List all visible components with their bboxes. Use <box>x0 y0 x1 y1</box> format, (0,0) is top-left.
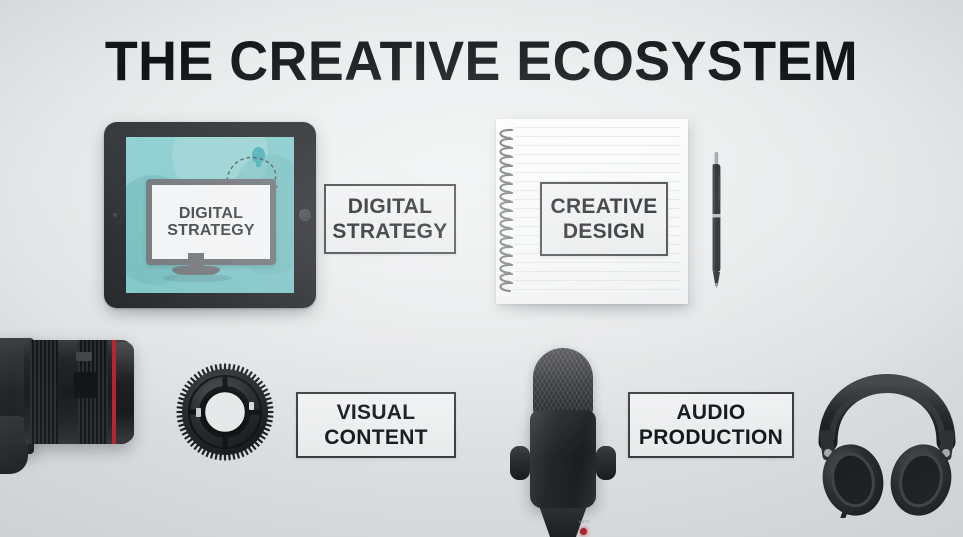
dslr-camera[interactable] <box>0 330 148 490</box>
mic-yoke-right <box>596 446 616 480</box>
tablet-screen[interactable]: DIGITAL STRATEGY <box>126 137 294 293</box>
monitor-stand-base <box>172 266 220 275</box>
tablet-device[interactable]: DIGITAL STRATEGY <box>104 122 316 308</box>
label-line2: PRODUCTION <box>639 426 783 449</box>
lens-front-element <box>116 342 134 442</box>
monitor-screen-text: DIGITAL STRATEGY <box>167 205 255 239</box>
label-line2: DESIGN <box>563 220 645 243</box>
tablet-camera-icon <box>113 213 117 217</box>
mic-body: MUTE BLUE YETI <box>530 410 596 508</box>
label-line2: STRATEGY <box>332 220 447 243</box>
tablet-home-button[interactable] <box>299 209 311 221</box>
monitor-text-line1: DIGITAL <box>179 205 243 222</box>
lens-distance-window <box>74 372 96 398</box>
page-title: THE CREATIVE ECOSYSTEM <box>19 33 943 89</box>
monitor-icon: DIGITAL STRATEGY <box>146 179 276 265</box>
mic-led-indicator <box>580 528 587 535</box>
label-text: CREATIVE DESIGN <box>550 194 657 244</box>
label-line2: CONTENT <box>324 426 428 449</box>
label-creative-design[interactable]: CREATIVE DESIGN <box>540 182 668 256</box>
creative-ecosystem-poster: THE CREATIVE ECOSYSTEM DIGITAL STRATEGY <box>0 0 963 537</box>
label-line1: VISUAL <box>337 401 416 424</box>
label-text: AUDIO PRODUCTION <box>639 400 783 450</box>
mic-mute-label: MUTE <box>572 520 596 524</box>
label-visual-content[interactable]: VISUAL CONTENT <box>296 392 456 458</box>
camera-lens <box>24 340 132 444</box>
label-audio-production[interactable]: AUDIO PRODUCTION <box>628 392 794 458</box>
label-text: VISUAL CONTENT <box>324 400 428 450</box>
label-line1: CREATIVE <box>550 195 657 218</box>
condenser-microphone[interactable]: MUTE BLUE YETI <box>508 348 618 537</box>
mic-yoke-left <box>510 446 530 480</box>
spiral-binding-icon <box>490 125 524 299</box>
ballpoint-pen[interactable] <box>710 152 723 288</box>
lens-zoom-ring <box>30 340 58 444</box>
studio-headphones[interactable] <box>812 338 962 518</box>
label-digital-strategy[interactable]: DIGITAL STRATEGY <box>324 184 456 254</box>
lens-switch-panel <box>76 352 92 361</box>
monitor-text-line2: STRATEGY <box>167 222 255 239</box>
lens-gear-ring[interactable] <box>175 362 275 462</box>
label-line1: DIGITAL <box>348 195 433 218</box>
label-text: DIGITAL STRATEGY <box>332 194 447 244</box>
label-line1: AUDIO <box>676 401 745 424</box>
monitor-shadow <box>162 274 232 282</box>
